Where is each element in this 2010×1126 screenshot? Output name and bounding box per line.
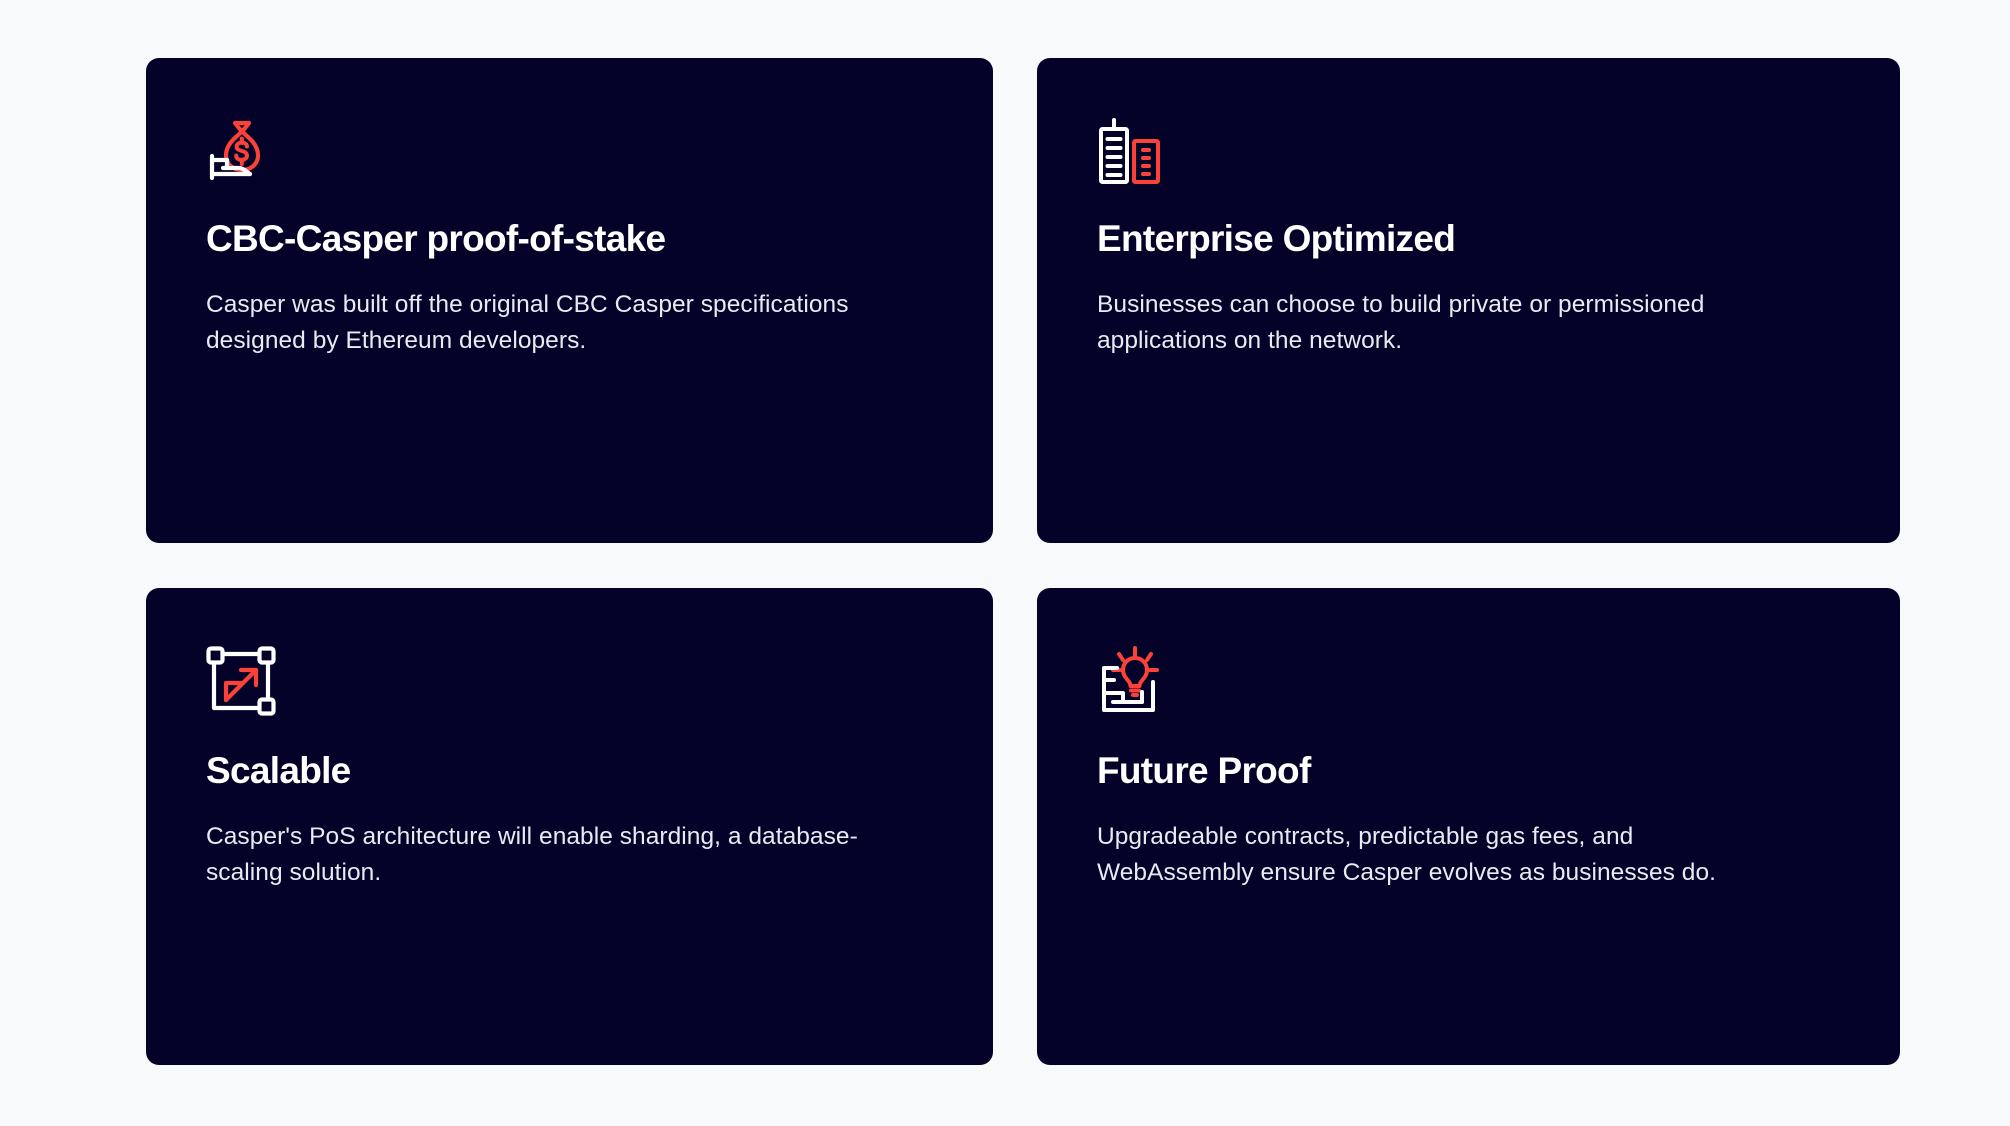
feature-card-description: Casper's PoS architecture will enable sh… (206, 819, 896, 891)
feature-card-grid: CBC-Casper proof-of-stake Casper was bui… (146, 58, 1900, 1065)
feature-card-description: Upgradeable contracts, predictable gas f… (1097, 819, 1787, 891)
money-bag-icon (206, 116, 276, 186)
feature-card-cbc-casper[interactable]: CBC-Casper proof-of-stake Casper was bui… (146, 58, 993, 543)
lightbulb-circuit-icon (1097, 646, 1167, 716)
feature-card-title: CBC-Casper proof-of-stake (206, 218, 933, 261)
scale-arrow-icon (206, 646, 276, 716)
feature-card-description: Businesses can choose to build private o… (1097, 287, 1787, 359)
feature-card-enterprise-optimized[interactable]: Enterprise Optimized Businesses can choo… (1037, 58, 1900, 543)
feature-card-future-proof[interactable]: Future Proof Upgradeable contracts, pred… (1037, 588, 1900, 1065)
office-buildings-icon (1097, 116, 1167, 186)
feature-card-title: Scalable (206, 750, 933, 793)
feature-card-title: Enterprise Optimized (1097, 218, 1840, 261)
features-section: CBC-Casper proof-of-stake Casper was bui… (0, 0, 2010, 1126)
feature-card-description: Casper was built off the original CBC Ca… (206, 287, 896, 359)
feature-card-scalable[interactable]: Scalable Casper's PoS architecture will … (146, 588, 993, 1065)
feature-card-title: Future Proof (1097, 750, 1840, 793)
